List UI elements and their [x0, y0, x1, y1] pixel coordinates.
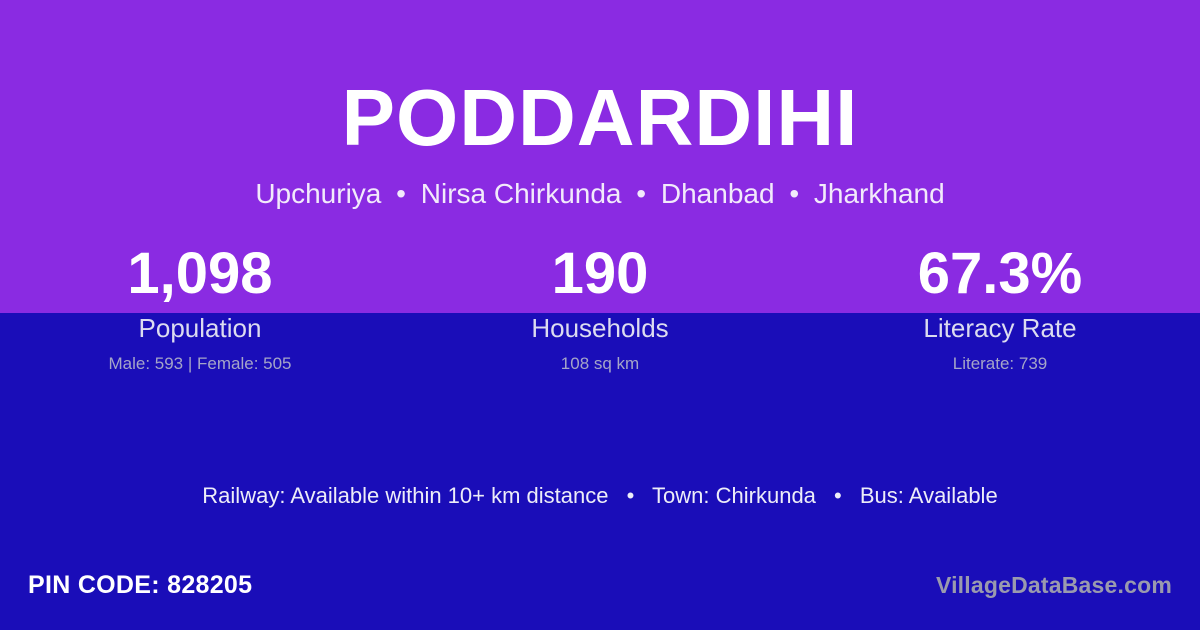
- breadcrumb-item-district: Dhanbad: [661, 178, 775, 209]
- stat-value-population: 1,098: [0, 245, 400, 303]
- stat-label-literacy: Literacy Rate: [800, 315, 1200, 341]
- stat-label-population: Population: [0, 315, 400, 341]
- stat-value-literacy: 67.3%: [800, 245, 1200, 303]
- stat-sub-households: 108 sq km: [400, 355, 800, 372]
- page-title: PODDARDIHI: [0, 78, 1200, 158]
- stat-value-households: 190: [400, 245, 800, 303]
- breadcrumb-item-state: Jharkhand: [814, 178, 945, 209]
- breadcrumb-separator: •: [629, 178, 653, 209]
- stats-row: 1,098 Population Male: 593 | Female: 505…: [0, 245, 1200, 372]
- stat-card-population: 1,098 Population Male: 593 | Female: 505: [0, 245, 400, 372]
- amenity-town: Town: Chirkunda: [652, 483, 816, 508]
- breadcrumb-separator: •: [782, 178, 806, 209]
- breadcrumb-item-block: Nirsa Chirkunda: [421, 178, 622, 209]
- pin-code: PIN CODE: 828205: [28, 573, 252, 598]
- amenity-separator: •: [822, 483, 854, 508]
- stat-card-literacy: 67.3% Literacy Rate Literate: 739: [800, 245, 1200, 372]
- breadcrumb: Upchuriya • Nirsa Chirkunda • Dhanbad • …: [0, 180, 1200, 208]
- amenity-bus: Bus: Available: [860, 483, 998, 508]
- breadcrumb-separator: •: [389, 178, 413, 209]
- stat-sub-population: Male: 593 | Female: 505: [0, 355, 400, 372]
- stat-card-households: 190 Households 108 sq km: [400, 245, 800, 372]
- amenity-separator: •: [615, 483, 647, 508]
- amenities-row: Railway: Available within 10+ km distanc…: [0, 485, 1200, 507]
- stat-sub-literacy: Literate: 739: [800, 355, 1200, 372]
- site-brand: VillageDataBase.com: [936, 574, 1172, 597]
- amenity-railway: Railway: Available within 10+ km distanc…: [202, 483, 608, 508]
- footer: PIN CODE: 828205 VillageDataBase.com: [0, 552, 1200, 630]
- breadcrumb-item-village: Upchuriya: [255, 178, 381, 209]
- stat-label-households: Households: [400, 315, 800, 341]
- header: PODDARDIHI Upchuriya • Nirsa Chirkunda •…: [0, 0, 1200, 208]
